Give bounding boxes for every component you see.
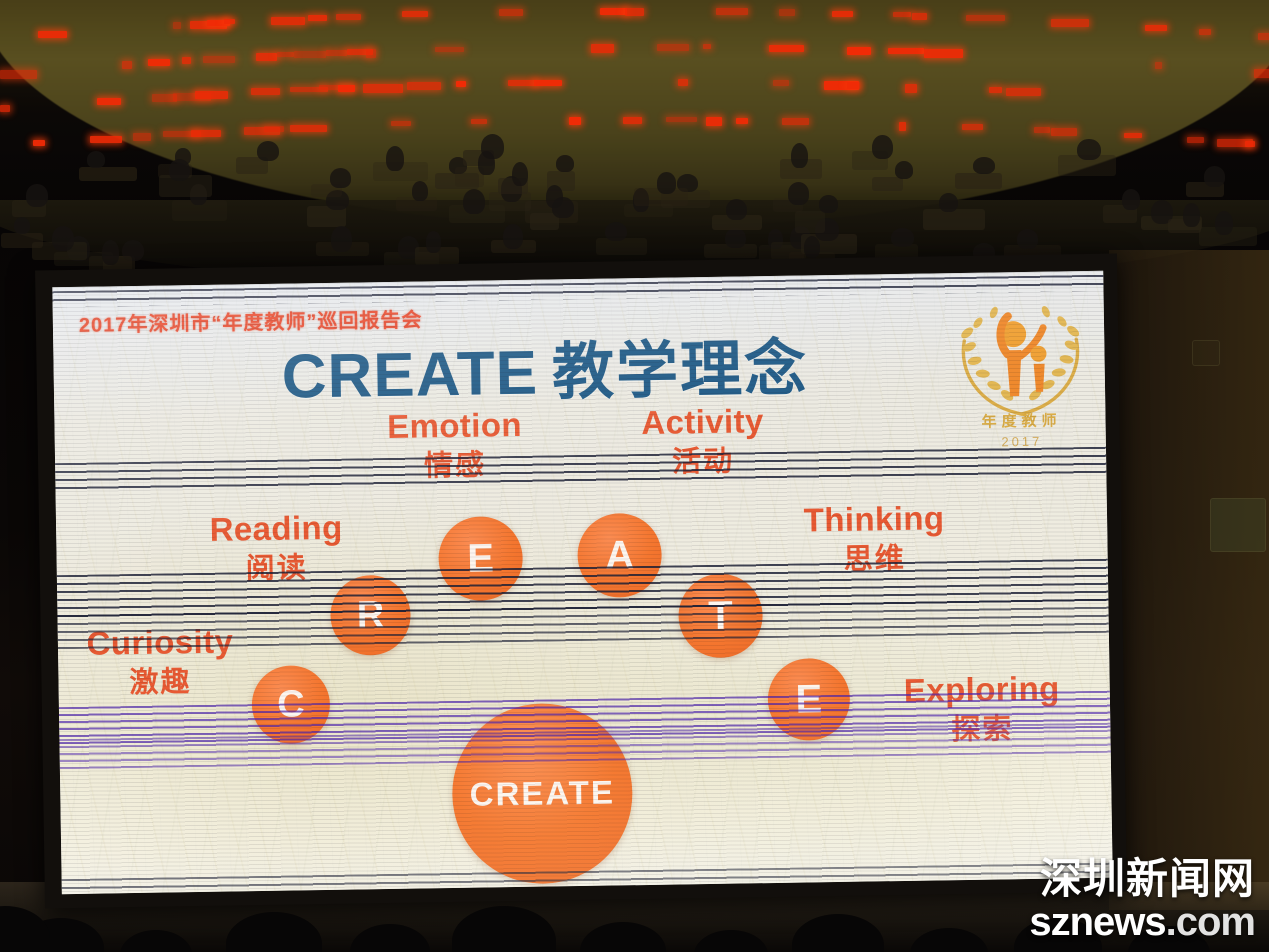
watermark-tld: .com (1166, 900, 1255, 944)
led-light (716, 8, 748, 15)
led-light (0, 70, 37, 79)
led-light (195, 91, 228, 99)
led-light (336, 14, 361, 20)
letter-bubble-a-text: A (605, 533, 635, 578)
led-light (256, 53, 277, 61)
led-light (173, 22, 181, 29)
audience-head (102, 240, 120, 265)
led-light (1051, 19, 1089, 27)
audience-head (891, 228, 915, 247)
seat-back (955, 173, 1002, 189)
audience-head (503, 224, 523, 249)
led-light (148, 59, 170, 66)
led-light (407, 82, 441, 90)
audience-head (657, 172, 677, 194)
annual-teacher-emblem-icon: 年度教师 2017 (950, 291, 1093, 468)
audience-head (726, 199, 747, 220)
led-light (678, 79, 688, 86)
led-light (38, 31, 67, 38)
letter-bubble-e1-text: E (467, 536, 494, 581)
letter-bubble-e2-text: E (795, 677, 822, 722)
led-light (924, 49, 963, 58)
concept-en-thinking: Thinking (774, 501, 975, 539)
audience-head (426, 231, 442, 253)
concept-cn-thinking: 思维 (774, 542, 974, 576)
led-light (912, 13, 927, 20)
audience-head (788, 182, 810, 205)
audience-head (804, 236, 820, 258)
right-side-wall (1109, 250, 1269, 910)
led-light (625, 8, 644, 16)
led-light (308, 15, 327, 21)
wall-panel-upper (1192, 340, 1220, 366)
watermark-cn: 深圳新闻网 (1029, 858, 1255, 900)
audience-head (386, 146, 404, 171)
led-light (534, 80, 562, 86)
led-light (508, 80, 536, 86)
presentation-slide: 2017年深圳市“年度教师”巡回报告会 CREATE教学理念 (52, 271, 1112, 894)
audience-head (605, 222, 627, 241)
audience-head (331, 226, 352, 252)
led-light (847, 82, 860, 89)
led-light (294, 51, 326, 58)
letter-bubble-c-text: C (277, 683, 305, 726)
seat-back (596, 238, 647, 255)
watermark: 深圳新闻网 sznews.com (1029, 858, 1255, 942)
seat-back (795, 211, 825, 233)
concept-en-emotion: Emotion (354, 407, 555, 445)
concept-cn-exploring: 探索 (877, 713, 1087, 747)
led-light (366, 49, 376, 58)
letter-bubble-r-text: R (356, 594, 384, 637)
concept-label-exploring: Exploring 探索 (877, 671, 1088, 746)
audience-head (556, 155, 574, 172)
led-light (277, 52, 294, 57)
led-light (326, 50, 347, 56)
watermark-site-name: sznews (1029, 900, 1165, 944)
led-light (338, 85, 355, 92)
audience-head (725, 228, 746, 248)
audience-head (169, 159, 190, 181)
led-light (271, 17, 305, 25)
led-light (893, 12, 911, 17)
led-light (1145, 25, 1167, 31)
concept-label-emotion: Emotion 情感 (354, 407, 555, 482)
led-light (966, 15, 1005, 21)
led-light (769, 45, 804, 52)
audience-head (512, 162, 528, 186)
audience-head (552, 197, 573, 218)
concept-label-reading: Reading 阅读 (176, 510, 377, 585)
audience-head (463, 189, 485, 214)
led-light (122, 61, 132, 69)
led-light (600, 8, 627, 15)
emblem-year: 2017 (952, 433, 1092, 450)
led-light (847, 47, 871, 55)
led-light (1155, 62, 1162, 69)
led-light (832, 11, 853, 17)
led-light (182, 57, 191, 64)
audience-head (257, 141, 279, 161)
led-wall-screen: 2017年深圳市“年度教师”巡回报告会 CREATE教学理念 (52, 271, 1112, 894)
audience-head (87, 151, 105, 168)
led-light (97, 98, 121, 105)
led-light (0, 105, 10, 112)
led-light (224, 19, 235, 24)
led-light (251, 88, 280, 95)
audience-head (52, 226, 73, 251)
led-light (989, 87, 1002, 93)
led-light (1258, 33, 1269, 40)
slide-title-en: CREATE (281, 339, 538, 412)
led-light (773, 80, 789, 86)
concept-cn-activity: 活动 (603, 445, 803, 479)
audience-head (1204, 166, 1225, 187)
led-light (363, 84, 403, 93)
audience-head (1215, 211, 1233, 235)
led-light (703, 44, 711, 49)
seat-back (923, 209, 985, 230)
led-light (888, 48, 924, 54)
audience-head (895, 161, 913, 179)
emblem-caption-cn: 年度教师 (951, 409, 1091, 432)
audience-head (1122, 189, 1140, 210)
screenshot-stage: 2017年深圳市“年度教师”巡回报告会 CREATE教学理念 (0, 0, 1269, 952)
audience-head (973, 157, 995, 174)
letter-bubble-t-text: T (708, 593, 733, 638)
concept-en-activity: Activity (602, 404, 803, 442)
audience-head (1017, 229, 1039, 249)
concept-cn-reading: 阅读 (177, 552, 377, 586)
audience-head (791, 143, 808, 168)
audience-head (872, 135, 893, 159)
led-light (1254, 69, 1269, 78)
led-light (657, 44, 689, 51)
concept-label-thinking: Thinking 思维 (774, 501, 975, 576)
led-light (1006, 88, 1041, 96)
concept-label-curiosity: Curiosity 激趣 (60, 624, 261, 699)
concept-cn-curiosity: 激趣 (60, 666, 260, 700)
center-bubble-create-text: CREATE (469, 773, 615, 813)
audience-head (14, 217, 30, 234)
audience-head (412, 181, 428, 201)
concept-en-reading: Reading (176, 510, 377, 548)
watermark-site: sznews.com (1029, 902, 1255, 942)
audience-head (939, 193, 958, 212)
wall-panel-lower (1210, 498, 1266, 552)
audience-head (26, 184, 47, 207)
audience-head (1077, 139, 1100, 160)
led-light (779, 9, 795, 16)
led-light (402, 11, 428, 17)
led-light (499, 9, 523, 16)
slide-title: CREATE教学理念 (281, 317, 809, 415)
audience-head (478, 151, 495, 175)
audience-head (1183, 203, 1200, 227)
led-light (203, 56, 235, 63)
concept-label-activity: Activity 活动 (602, 404, 803, 479)
led-light (905, 84, 917, 93)
concept-en-exploring: Exploring (877, 671, 1088, 709)
led-light (591, 44, 614, 53)
led-light (435, 47, 464, 52)
audience-head (819, 195, 838, 213)
slide-title-cn: 教学理念 (551, 334, 808, 407)
concept-en-curiosity: Curiosity (60, 624, 261, 662)
seat-back (872, 177, 903, 191)
audience-head (330, 168, 352, 188)
led-light (456, 81, 466, 87)
seat-back (79, 167, 137, 181)
led-light (1199, 29, 1211, 35)
concept-cn-emotion: 情感 (355, 449, 555, 483)
led-wall-frame: 2017年深圳市“年度教师”巡回报告会 CREATE教学理念 (35, 254, 1127, 909)
